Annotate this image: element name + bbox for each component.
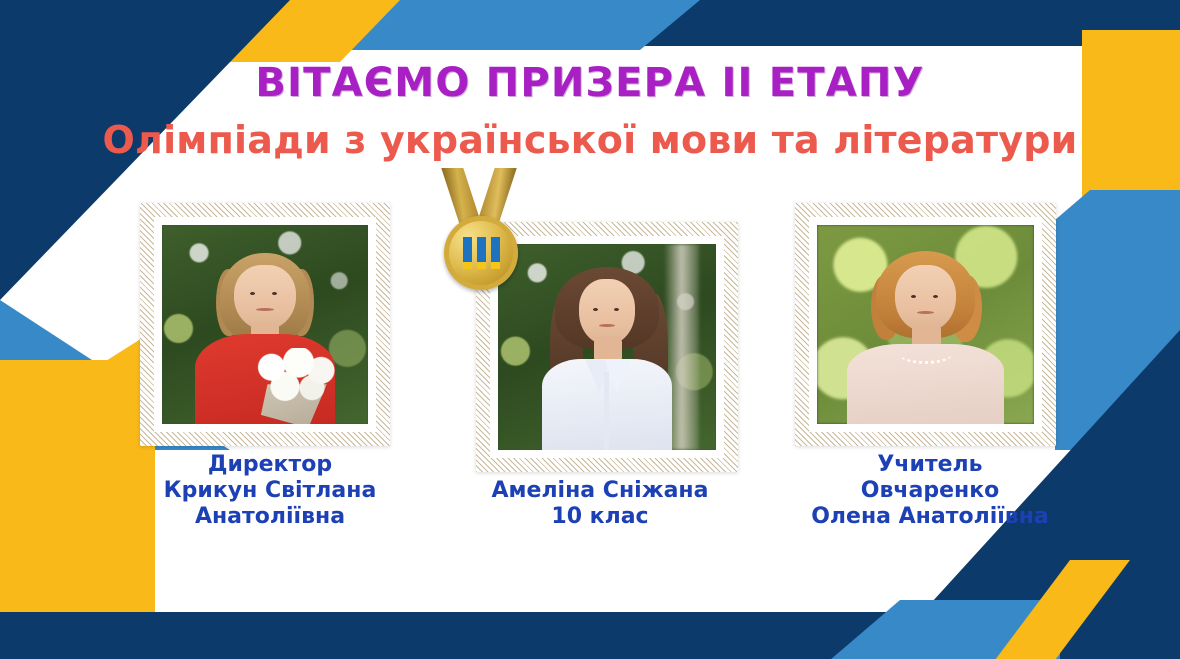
portrait-student (498, 244, 716, 450)
caption-left: ДиректорКрикун СвітланаАнатоліївна (110, 452, 430, 530)
photo-frame-right-mat (809, 217, 1042, 432)
caption-right: УчительОвчаренкоОлена Анатоліївна (760, 452, 1100, 530)
photo-frame-right (795, 203, 1056, 446)
portrait-teacher (817, 225, 1034, 424)
photo-frame-left-mat (154, 217, 376, 432)
headline-container: ВІТАЄМО ПРИЗЕРА II ЕТАПУ (0, 62, 1180, 104)
medal-numeral-bar (463, 237, 472, 269)
caption-center: Амеліна Сніжана10 клас (430, 478, 770, 530)
medal-numeral-bar (491, 237, 500, 269)
poster-headline: ВІТАЄМО ПРИЗЕРА II ЕТАПУ (0, 62, 1180, 104)
subheadline-container: Олімпіади з української мови та літерату… (0, 120, 1180, 162)
award-poster: ВІТАЄМО ПРИЗЕРА II ЕТАПУ Олімпіади з укр… (0, 0, 1180, 659)
photo-center-student (498, 244, 716, 450)
photo-frame-left (140, 203, 390, 446)
medal-numeral-bar (477, 237, 486, 269)
portrait-director (162, 225, 368, 424)
medal-icon (434, 168, 526, 298)
bouquet-icon (249, 348, 340, 412)
medal-disc (444, 216, 518, 290)
photo-right-teacher (817, 225, 1034, 424)
poster-subheadline: Олімпіади з української мови та літерату… (0, 120, 1180, 162)
photo-left-director (162, 225, 368, 424)
